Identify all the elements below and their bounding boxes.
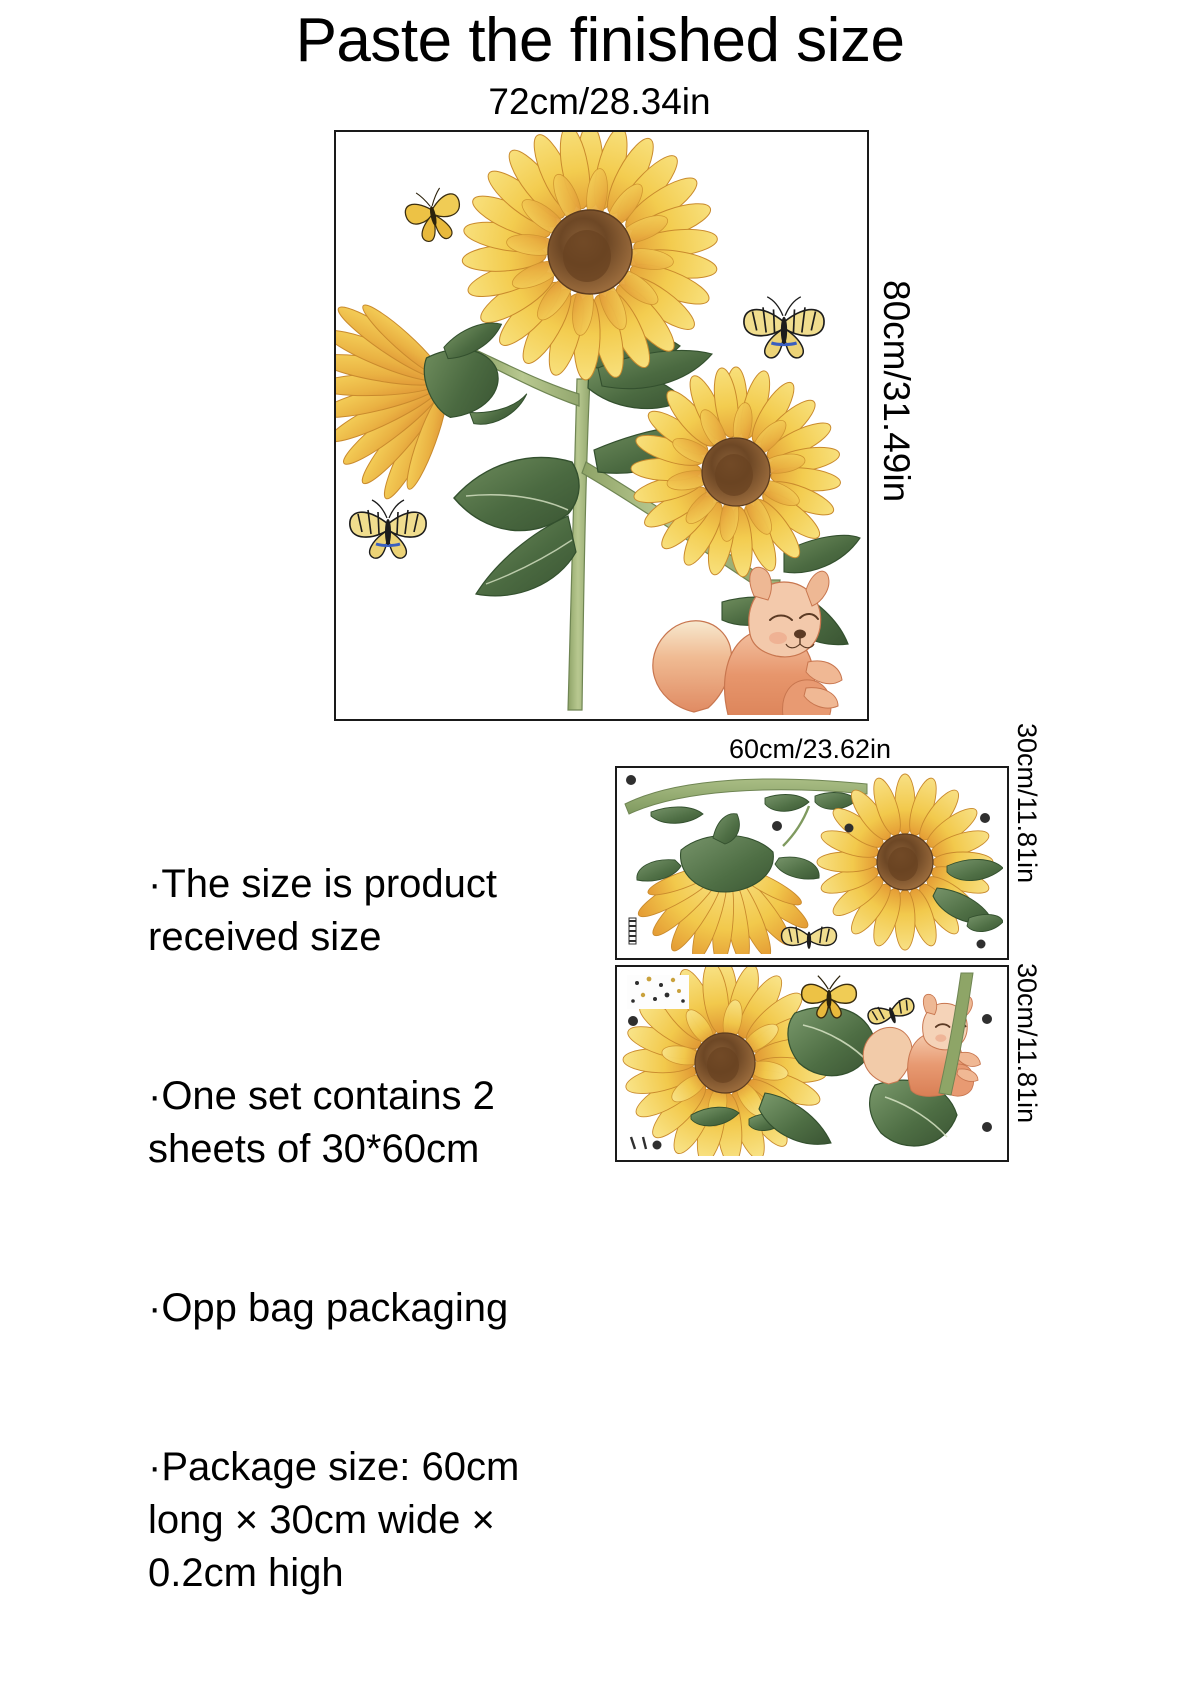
sheet-1-artwork (617, 768, 1003, 954)
detail-bullet: ·One set contains 2 sheets of 30*60cm (148, 1070, 588, 1176)
page-title: Paste the finished size (0, 6, 1200, 76)
main-panel-width-label: 72cm/28.34in (334, 80, 865, 124)
butterfly-swallowtail-left (350, 500, 426, 558)
sheet-2-artwork (617, 967, 1003, 1156)
sheet2-height-label: 30cm/11.81in (1013, 963, 1040, 1123)
butterfly-swallowtail-sheet2 (866, 996, 917, 1030)
detail-bullet: ·Opp bag packaging (148, 1282, 588, 1335)
sheet1-height-label: 30cm/11.81in (1013, 723, 1040, 883)
sheets-width-label: 60cm/23.62in (615, 733, 1005, 765)
detail-bullet: ·Package size: 60cm long × 30cm wide × 0… (148, 1441, 588, 1600)
butterfly-swallowtail-right (744, 297, 824, 358)
infographic-root: Paste the finished size 72cm/28.34in 80c… (0, 0, 1200, 1200)
sheet-1-panel (615, 766, 1009, 960)
sheet-2-panel (615, 965, 1009, 1162)
product-details-list: ·The size is product received size ·One … (148, 752, 588, 1706)
main-sunflower-artwork (336, 132, 863, 715)
butterfly-gold-small (402, 185, 466, 246)
main-preview-panel (334, 130, 869, 721)
detail-bullet: ·The size is product received size (148, 858, 588, 964)
butterfly-sheet1 (782, 927, 837, 949)
squirrel-figure (653, 567, 842, 715)
main-panel-height-label: 80cm/31.49in (878, 280, 915, 502)
